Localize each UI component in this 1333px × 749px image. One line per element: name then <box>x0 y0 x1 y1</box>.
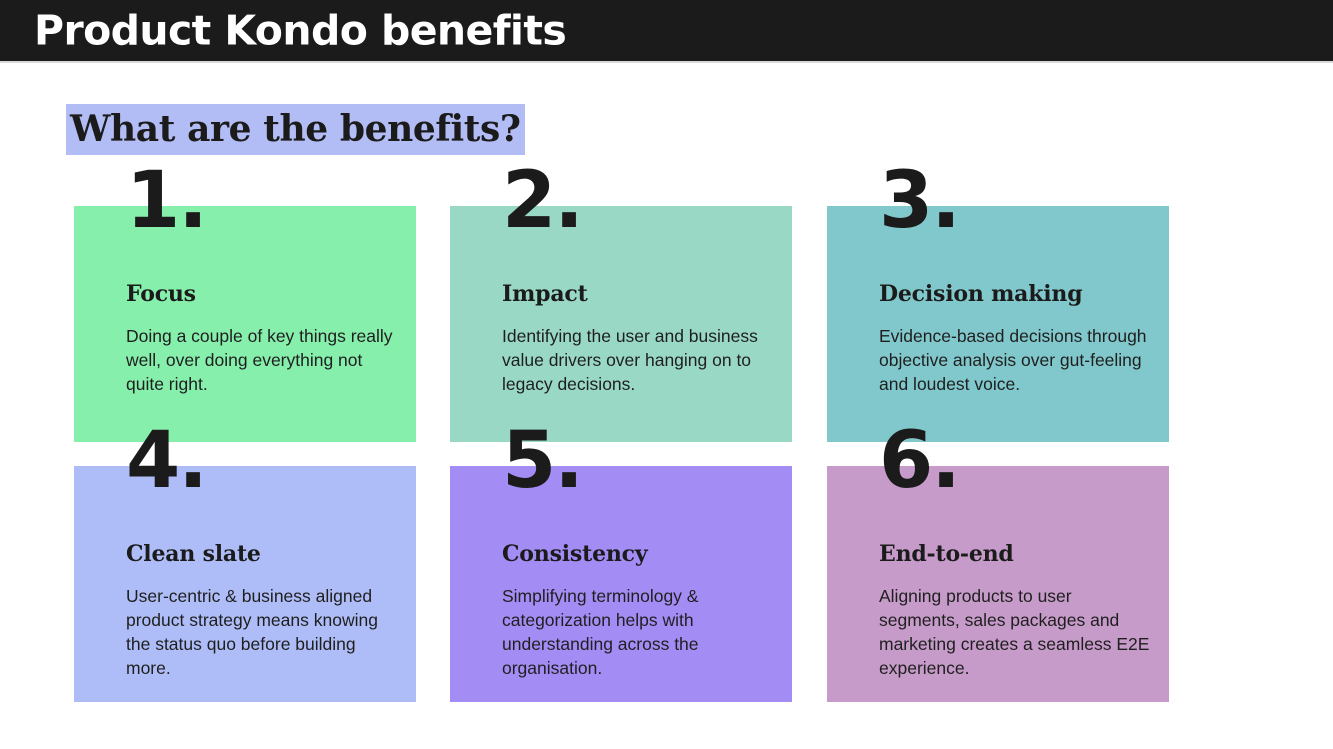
benefit-title-5: Consistency <box>502 542 774 566</box>
benefits-card-grid: 1. Focus Doing a couple of key things re… <box>74 206 1168 702</box>
benefit-body-5: Simplifying terminology & categorization… <box>502 584 774 680</box>
benefit-body-6: Aligning products to user segments, sale… <box>879 584 1151 680</box>
benefit-title-2: Impact <box>502 282 774 306</box>
benefit-card-1: 1. Focus Doing a couple of key things re… <box>74 206 416 442</box>
subheading-container: What are the benefits? <box>66 104 525 155</box>
benefit-title-3: Decision making <box>879 282 1151 306</box>
benefit-body-4: User-centric & business aligned product … <box>126 584 398 680</box>
benefit-body-3: Evidence-based decisions through objecti… <box>879 324 1151 396</box>
benefit-number-2: 2. <box>502 162 582 240</box>
subheading-highlighted: What are the benefits? <box>66 104 525 155</box>
benefit-card-6: 6. End-to-end Aligning products to user … <box>827 466 1169 702</box>
benefit-title-4: Clean slate <box>126 542 398 566</box>
benefit-number-3: 3. <box>879 162 959 240</box>
benefit-card-3: 3. Decision making Evidence-based decisi… <box>827 206 1169 442</box>
app-header-bar: Product Kondo benefits <box>0 0 1333 63</box>
benefit-number-5: 5. <box>502 422 582 500</box>
benefit-number-4: 4. <box>126 422 206 500</box>
benefit-card-4: 4. Clean slate User-centric & business a… <box>74 466 416 702</box>
benefit-title-6: End-to-end <box>879 542 1151 566</box>
page-title: Product Kondo benefits <box>34 10 566 51</box>
benefit-number-6: 6. <box>879 422 959 500</box>
benefit-card-2: 2. Impact Identifying the user and busin… <box>450 206 792 442</box>
benefit-number-1: 1. <box>126 162 206 240</box>
benefit-title-1: Focus <box>126 282 398 306</box>
benefit-card-5: 5. Consistency Simplifying terminology &… <box>450 466 792 702</box>
benefit-body-2: Identifying the user and business value … <box>502 324 774 396</box>
benefit-body-1: Doing a couple of key things really well… <box>126 324 398 396</box>
